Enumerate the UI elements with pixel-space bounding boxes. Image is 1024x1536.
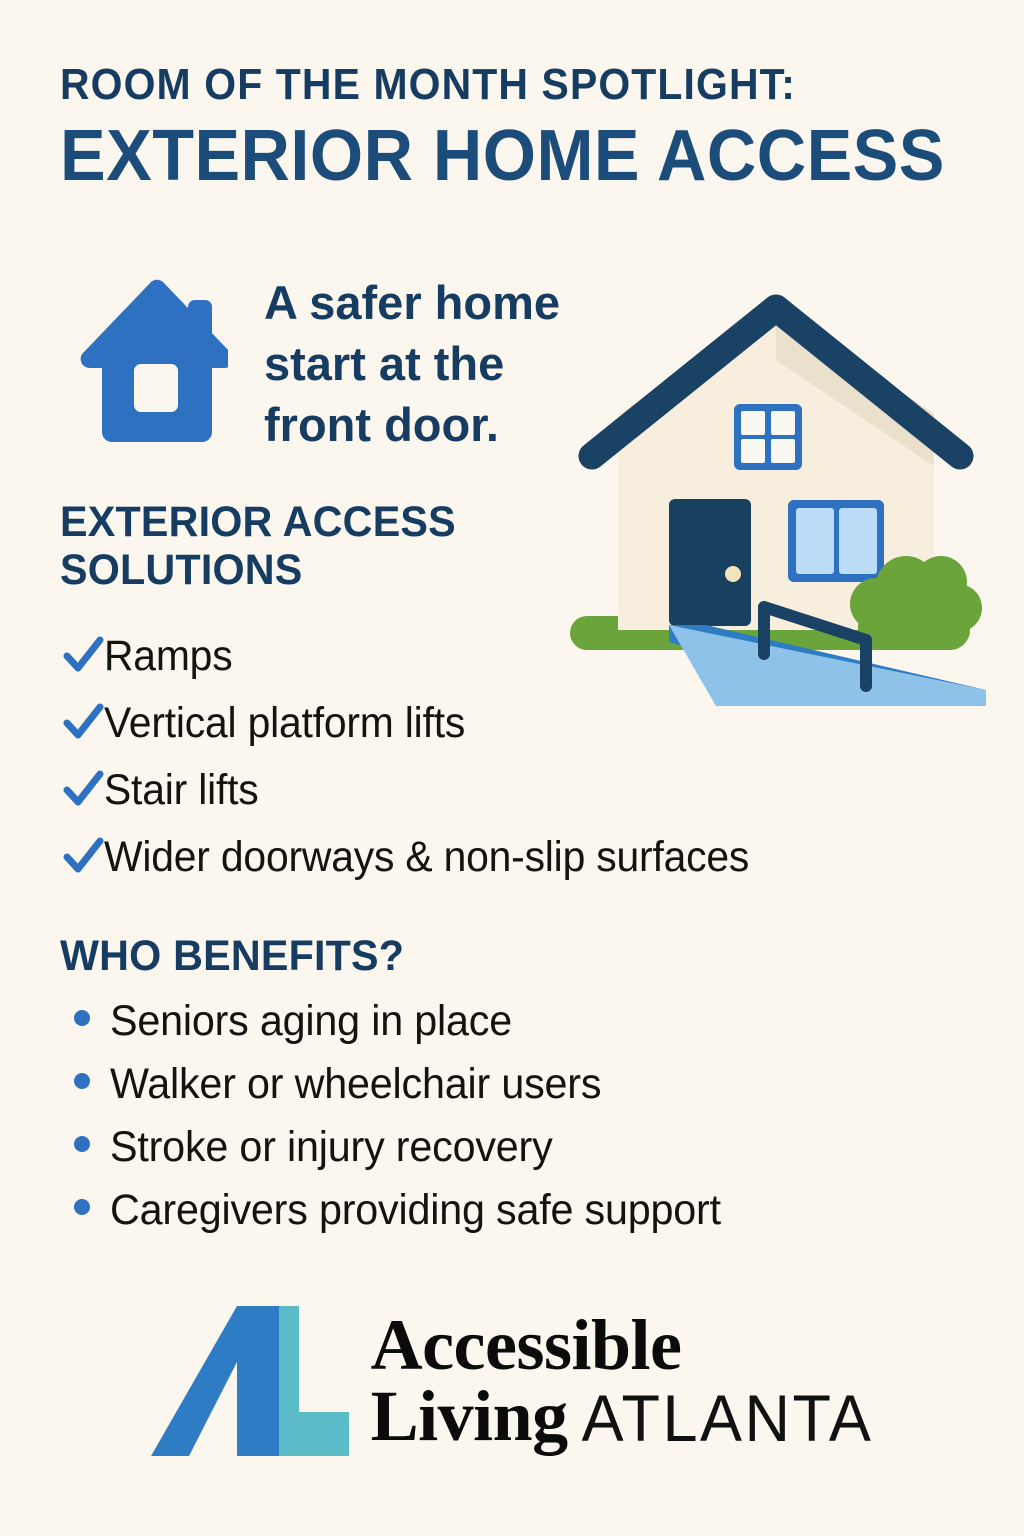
list-item: Vertical platform lifts [62, 697, 962, 745]
solutions-section: EXTERIOR ACCESS SOLUTIONS [60, 498, 580, 594]
list-item: Stair lifts [62, 764, 962, 812]
list-item: Seniors aging in place [74, 1000, 974, 1043]
tagline-row: A safer home start at the front door. [78, 272, 624, 455]
header-block: ROOM OF THE MONTH SPOTLIGHT: EXTERIOR HO… [60, 62, 980, 192]
list-item-label: Stroke or injury recovery [110, 1126, 553, 1169]
infographic-poster: ROOM OF THE MONTH SPOTLIGHT: EXTERIOR HO… [0, 0, 1024, 1536]
logo-wordmark: Accessible Living ATLANTA [371, 1311, 874, 1451]
list-item-label: Stair lifts [104, 769, 259, 812]
brand-logo: Accessible Living ATLANTA [0, 1300, 1024, 1462]
doorknob [725, 566, 741, 582]
list-item: Caregivers providing safe support [74, 1189, 974, 1232]
list-item-label: Seniors aging in place [110, 1000, 512, 1043]
logo-line-living-atlanta: Living ATLANTA [371, 1382, 874, 1451]
benefits-list: Seniors aging in place Walker or wheelch… [74, 1000, 974, 1252]
bullet-dot-icon [74, 1073, 90, 1089]
bullet-dot-icon [74, 1136, 90, 1152]
list-item: Wider doorways & non-slip surfaces [62, 831, 962, 879]
bullet-dot-icon [74, 1010, 90, 1026]
list-item-label: Vertical platform lifts [104, 702, 465, 745]
page-title: EXTERIOR HOME ACCESS [60, 120, 934, 192]
check-icon [62, 770, 104, 810]
solutions-heading: EXTERIOR ACCESS SOLUTIONS [60, 498, 559, 594]
list-item-label: Caregivers providing safe support [110, 1189, 721, 1232]
side-window [788, 500, 884, 582]
front-door [669, 499, 751, 626]
bullet-dot-icon [74, 1199, 90, 1215]
logo-word-atlanta: ATLANTA [582, 1388, 874, 1451]
list-item: Ramps [62, 630, 962, 678]
home-icon [78, 278, 228, 448]
benefits-heading: WHO BENEFITS? [60, 932, 732, 980]
check-icon [62, 703, 104, 743]
list-item-label: Ramps [104, 635, 232, 678]
eyebrow-text: ROOM OF THE MONTH SPOTLIGHT: [60, 62, 916, 108]
logo-line-accessible: Accessible [371, 1311, 874, 1380]
check-icon [62, 636, 104, 676]
list-item-label: Walker or wheelchair users [110, 1063, 601, 1106]
al-monogram-icon [151, 1300, 349, 1462]
benefits-section: WHO BENEFITS? [60, 932, 760, 980]
list-item: Stroke or injury recovery [74, 1126, 974, 1169]
solutions-list: Ramps Vertical platform lifts Stair lift… [62, 630, 962, 898]
list-item: Walker or wheelchair users [74, 1063, 974, 1106]
list-item-label: Wider doorways & non-slip surfaces [104, 836, 749, 879]
attic-window [734, 404, 802, 470]
logo-word-living: Living [371, 1382, 568, 1451]
check-icon [62, 837, 104, 877]
